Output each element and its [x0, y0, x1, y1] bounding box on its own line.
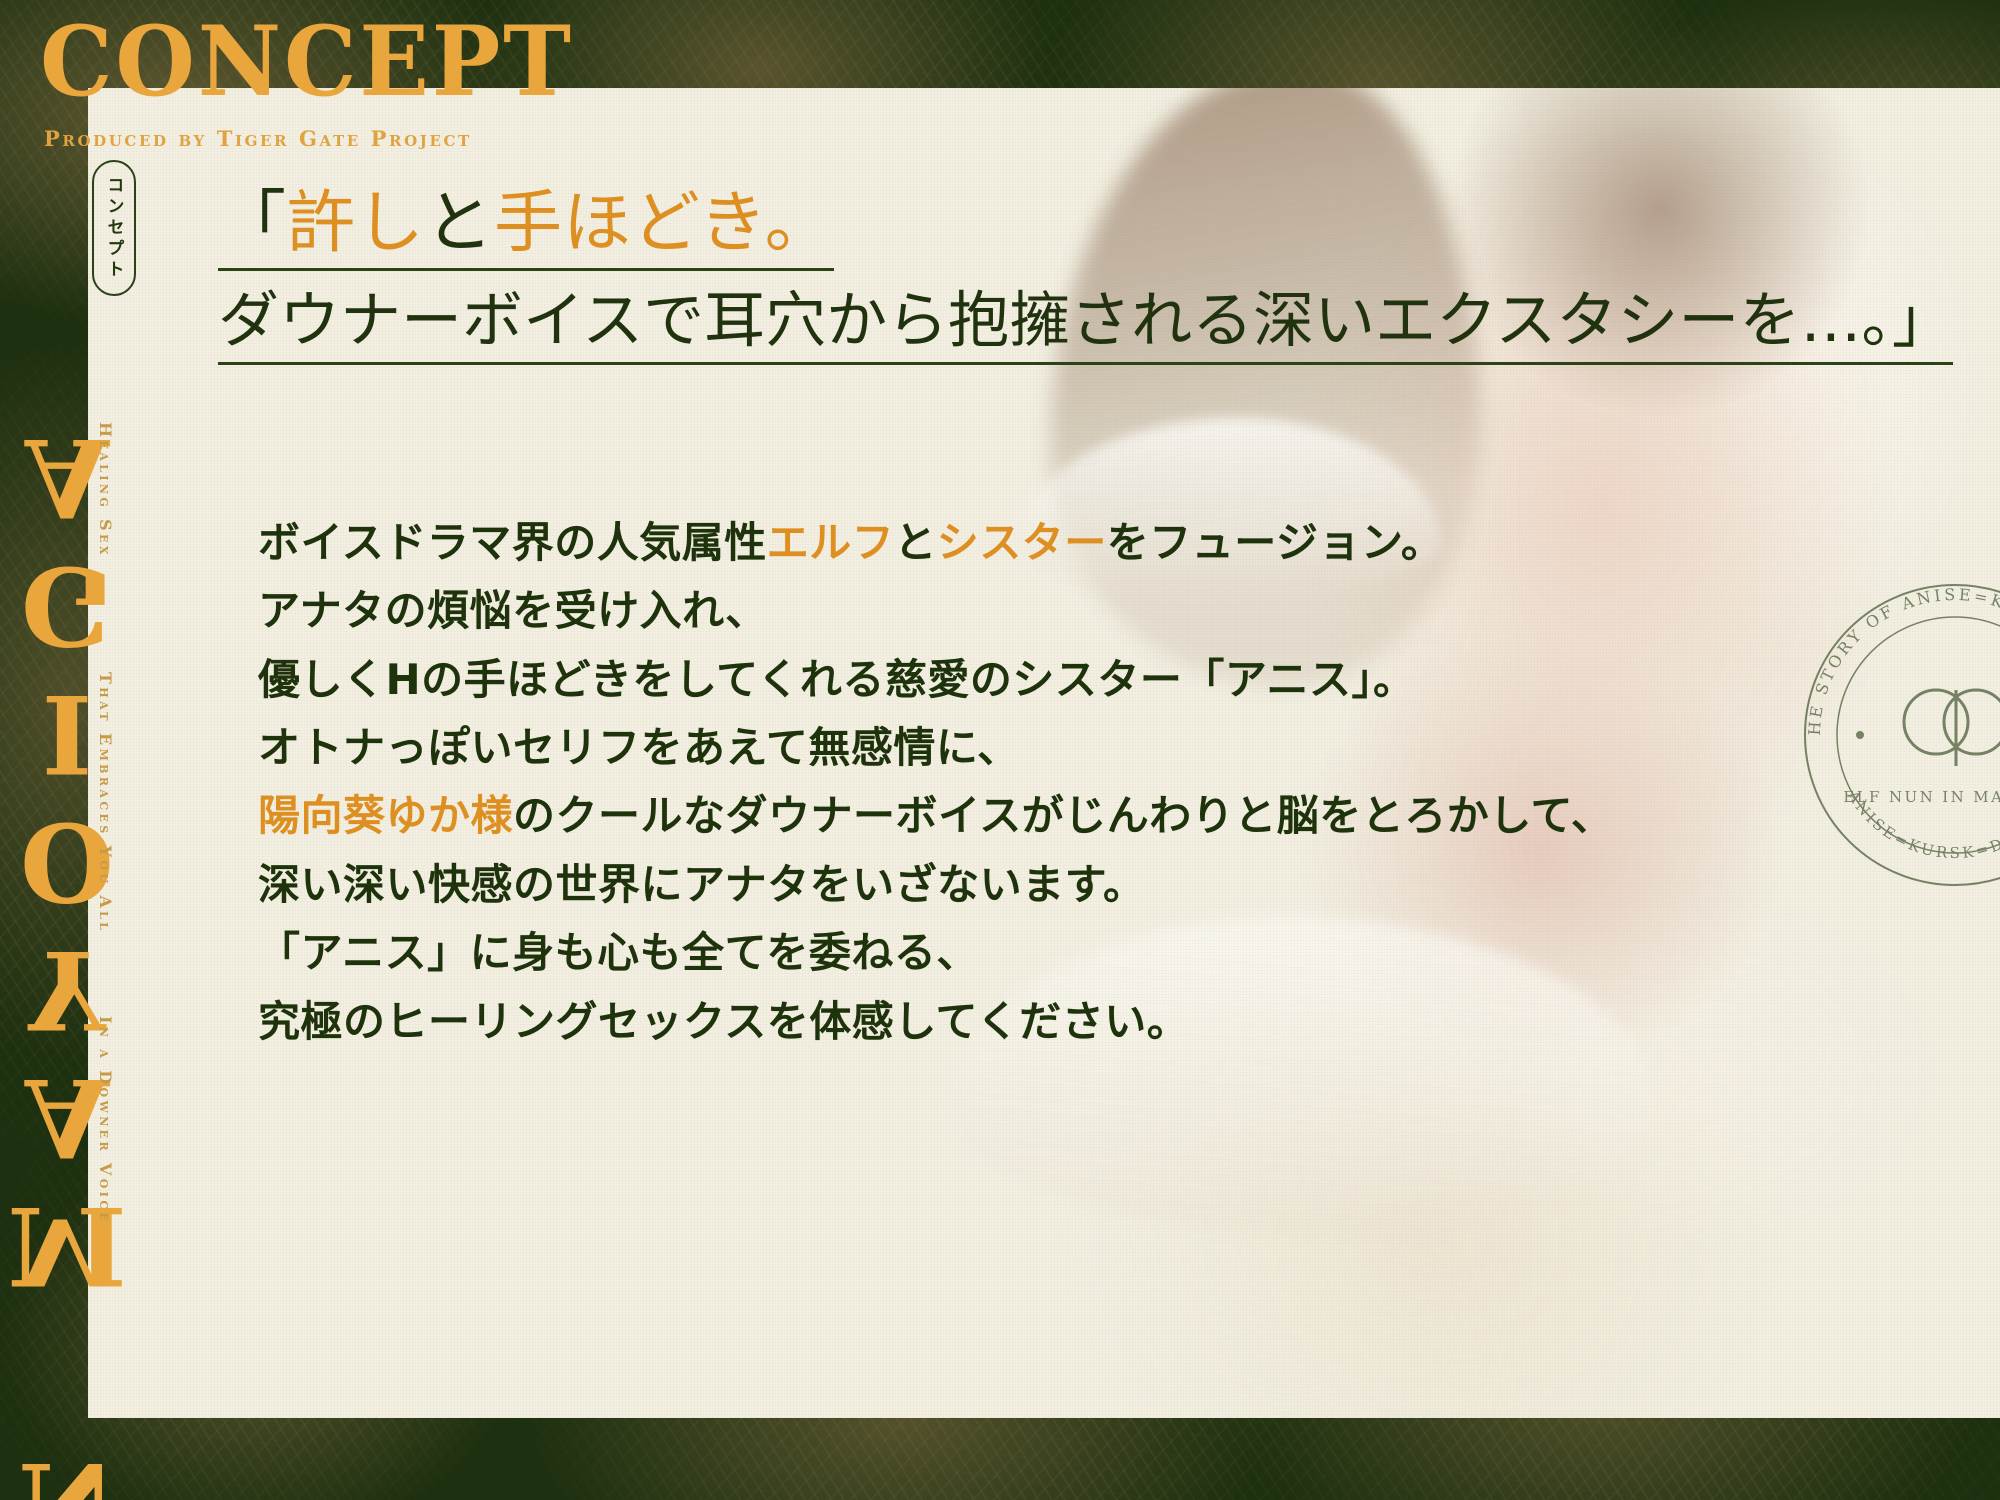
- headline-line-1: 「許しと手ほどき。: [218, 188, 834, 271]
- story-seal-emblem: THE STORY OF ANISE=KURSK=DEEDLIT ANISE=K…: [1790, 570, 2000, 900]
- body-line-6: 深い深い快感の世界にアナタをいざないます。: [258, 862, 1948, 907]
- body-l1-part-c: と: [894, 518, 937, 567]
- page-title: CONCEPT: [40, 14, 574, 110]
- svg-text:ELF NUN IN MAYOIGA: ELF NUN IN MAYOIGA: [1843, 788, 2000, 806]
- body-line-5: 陽向葵ゆか様のクールなダウナーボイスがじんわりと脳をとろかして、: [258, 793, 1948, 838]
- body-l5-accent-voice-actor: 陽向葵ゆか様: [258, 791, 513, 840]
- page-header: CONCEPT Produced by Tiger Gate Project: [40, 14, 602, 151]
- body-line-2: アナタの煩悩を受け入れ、: [258, 588, 1948, 633]
- headline-plain-1: と: [425, 184, 494, 263]
- headline-block: 「許しと手ほどき。 ダウナーボイスで耳穴から抱擁される深いエクスタシーを…。」: [218, 188, 1938, 365]
- rail-tagline-1: Healing Sex: [96, 422, 115, 558]
- left-rail: ELF NUN IN MAYOIGA Healing Sex That Embr…: [0, 0, 88, 1500]
- svg-text:THE STORY OF ANISE=KURSK=DEEDL: THE STORY OF ANISE=KURSK=DEEDLIT: [1790, 570, 2000, 736]
- headline-accent-1: 許し: [287, 184, 425, 263]
- body-l1-part-e: をフュージョン。: [1107, 518, 1444, 567]
- body-line-8: 究極のヒーリングセックスを体感してください。: [258, 999, 1948, 1044]
- body-line-3: 優しくHの手ほどきをしてくれる慈愛のシスター「アニス」。: [258, 657, 1948, 702]
- concept-slide: CONCEPT Produced by Tiger Gate Project E…: [0, 0, 2000, 1500]
- rail-tagline-3: In a Downer Voice: [96, 1016, 115, 1224]
- body-copy: ボイスドラマ界の人気属性エルフとシスターをフュージョン。 アナタの煩悩を受け入れ…: [258, 520, 1948, 1044]
- body-line-7: 「アニス」に身も心も全てを委ねる、: [258, 930, 1948, 975]
- body-l1-part-a: ボイスドラマ界の人気属性: [258, 518, 767, 567]
- rail-tagline-2: That Embraces You All: [96, 672, 115, 933]
- headline-open-bracket: 「: [218, 184, 287, 263]
- body-line-1: ボイスドラマ界の人気属性エルフとシスターをフュージョン。: [258, 520, 1948, 565]
- body-line-4: オトナっぽいセリフをあえて無感情に、: [258, 725, 1948, 770]
- producer-credit: Produced by Tiger Gate Project: [44, 126, 602, 151]
- headline-line-2: ダウナーボイスで耳穴から抱擁される深いエクスタシーを…。」: [218, 289, 1953, 365]
- section-badge: コンセプト: [92, 160, 136, 296]
- body-l1-accent-sister: シスター: [937, 518, 1107, 567]
- body-l5-part-b: のクールなダウナーボイスがじんわりと脳をとろかして、: [513, 791, 1613, 840]
- headline-accent-2: 手ほどき。: [494, 184, 834, 263]
- section-badge-label: コンセプト: [106, 176, 123, 281]
- body-l1-accent-elf: エルフ: [767, 518, 895, 567]
- series-vertical-title: ELF NUN IN MAYOIGA: [0, 412, 114, 1500]
